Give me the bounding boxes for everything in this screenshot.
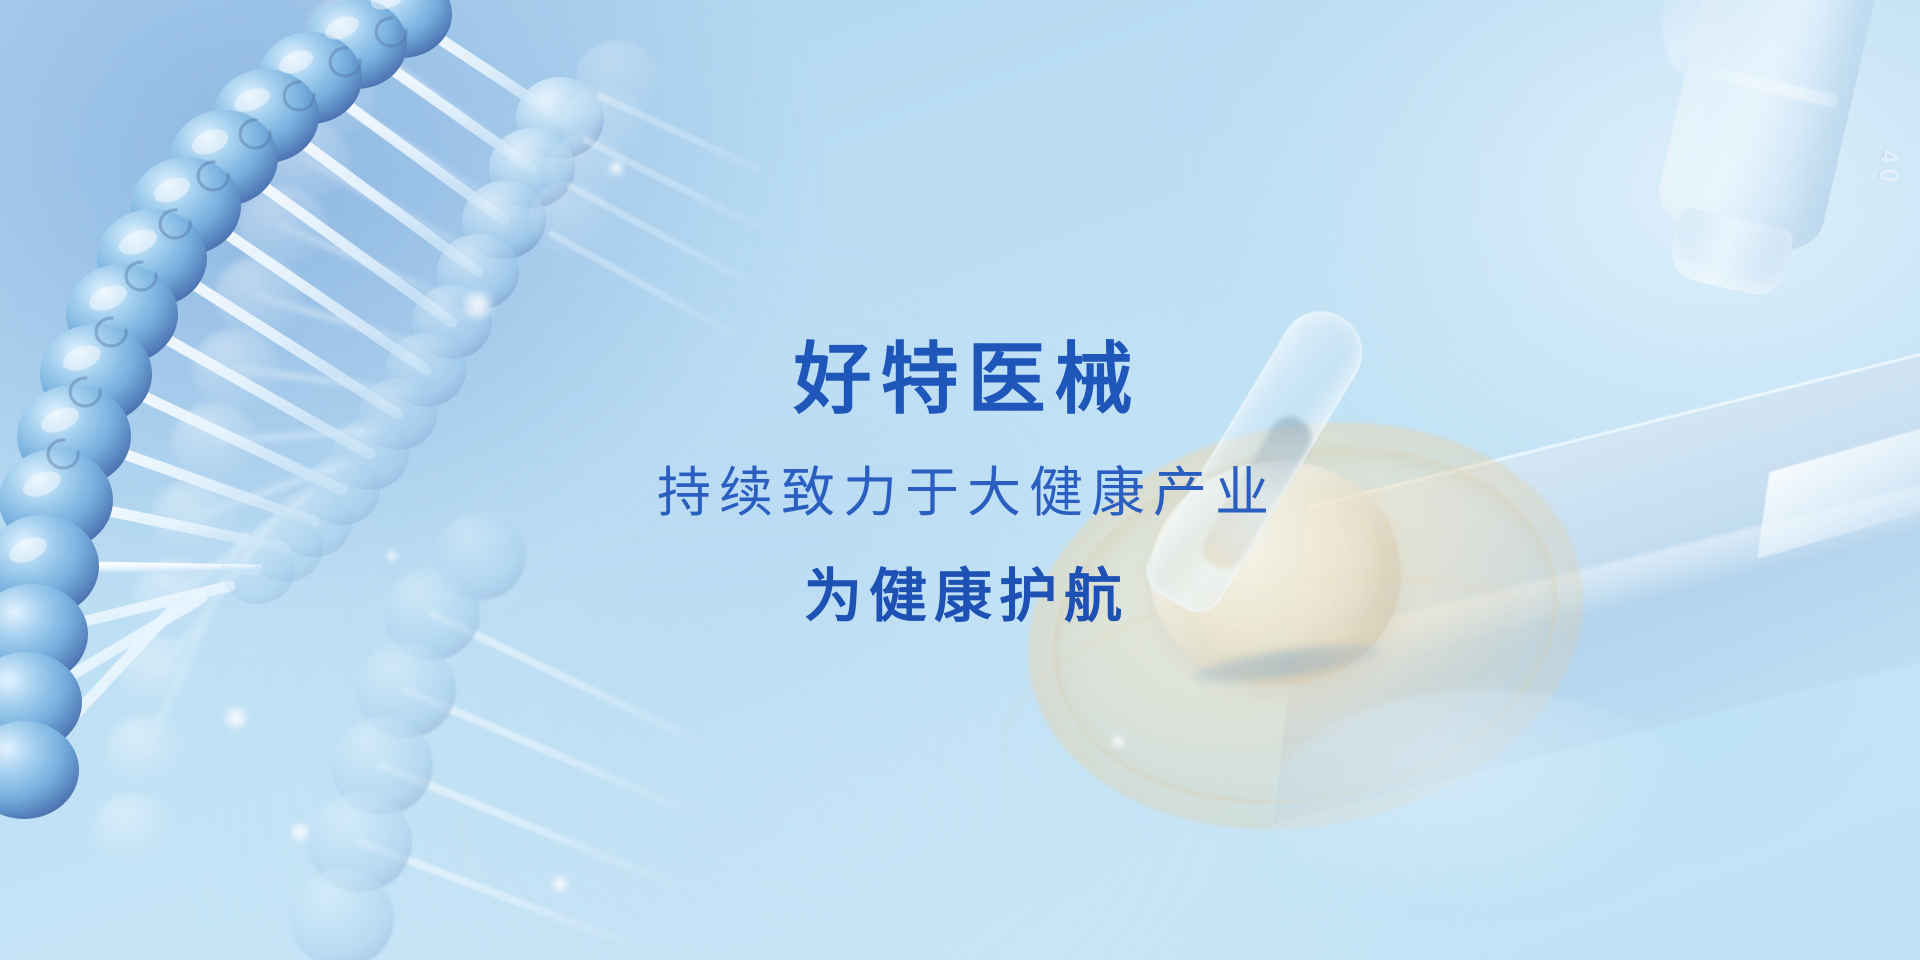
hero-tagline: 为健康护航 bbox=[6, 568, 1920, 626]
microscope-magnification-label: 40 bbox=[1873, 149, 1905, 186]
petri-dish-glass bbox=[1270, 690, 1700, 920]
microscope-objective-group: 40 bbox=[1579, 0, 1920, 399]
company-name-heading: 好特医械 bbox=[6, 340, 1920, 418]
hero-banner: 40 bbox=[0, 0, 1920, 960]
hero-text-block: 好特医械 持续致力于大健康产业 为健康护航 bbox=[0, 340, 1920, 626]
hero-subtitle: 持续致力于大健康产业 bbox=[6, 466, 1920, 520]
